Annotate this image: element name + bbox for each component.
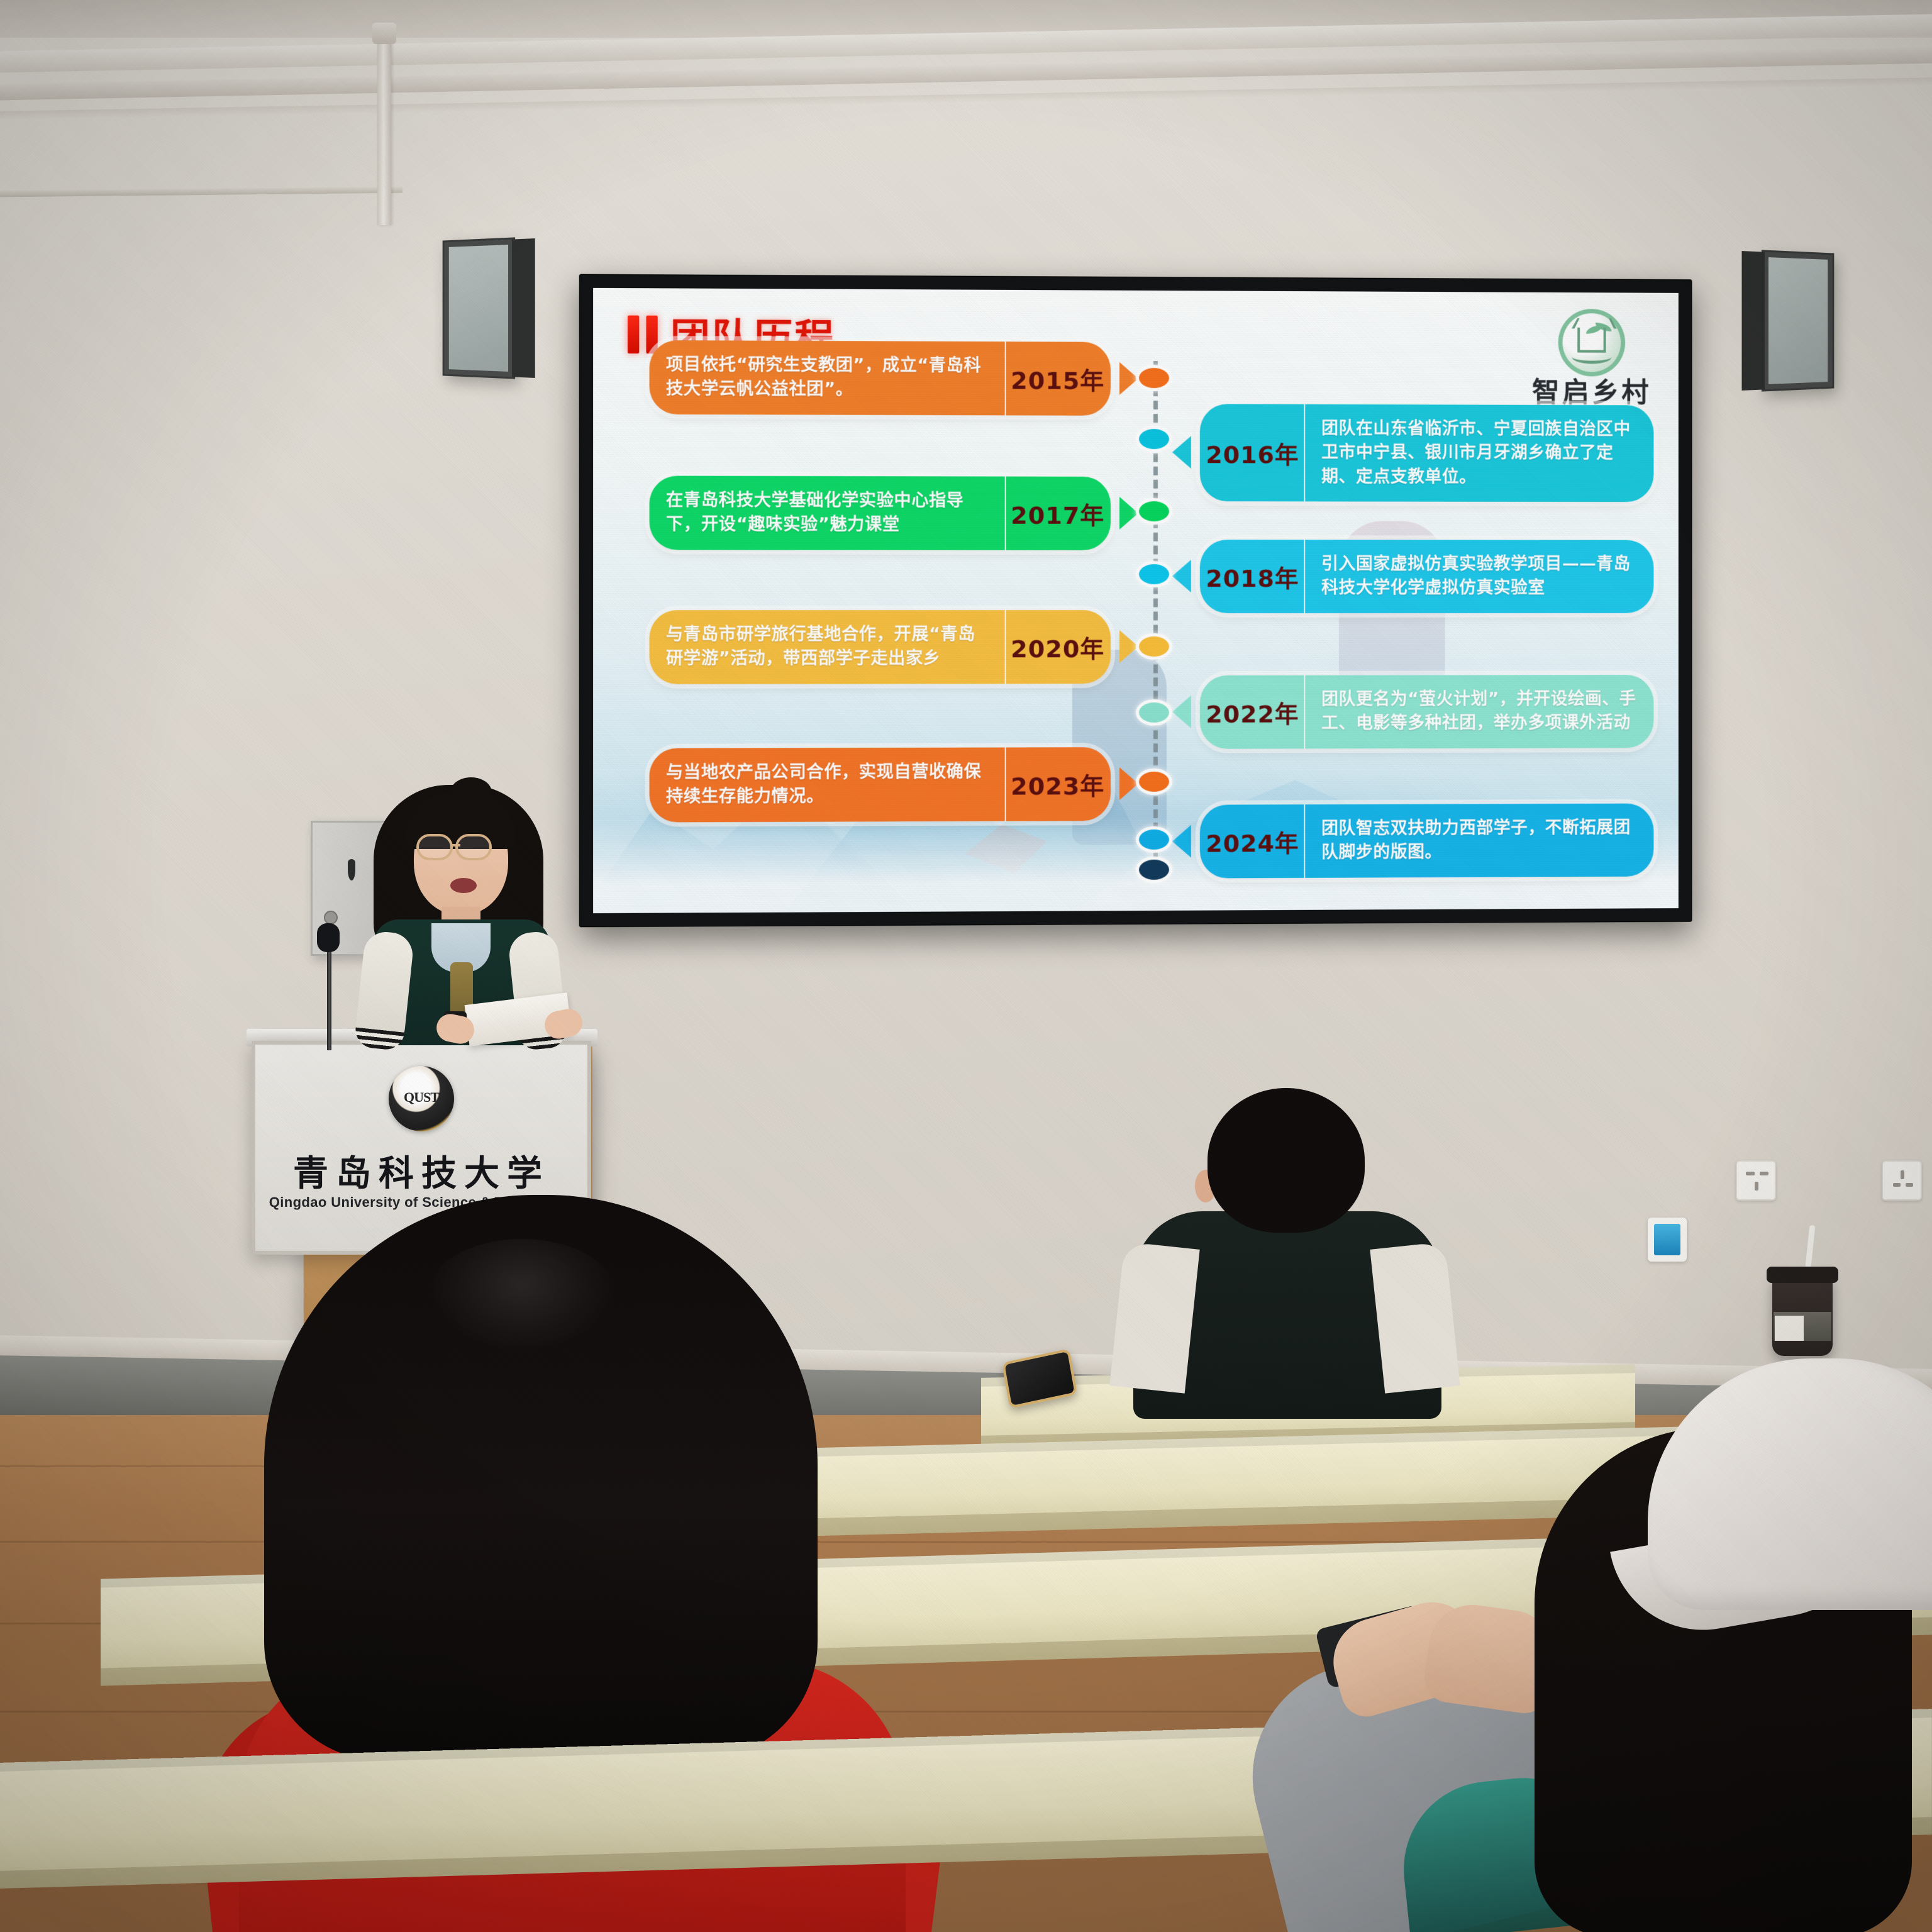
presentation-slide: 团队历程 智启乡村 ZHIQIXIANGCUN 项目依托“研究生支教团”，成立“…	[593, 288, 1679, 913]
microphone-stand	[327, 937, 331, 1050]
hair-highlight	[428, 1239, 616, 1352]
timeline-description: 团队在山东省临沂市、宁夏回族自治区中卫市中宁县、银川市月牙湖乡确立了定期、定点支…	[1305, 404, 1653, 502]
timeline-end-node	[1136, 857, 1172, 883]
brand-name-cn: 智启乡村	[1532, 379, 1651, 408]
glasses-bridge	[452, 844, 460, 847]
timeline-year-label: 2018年	[1200, 540, 1305, 613]
timeline-item-2022: 2022年团队更名为“萤火计划”，并开设绘画、手工、电影等多种社团，举办多项课外…	[1172, 675, 1665, 748]
wall-speaker-right	[1762, 250, 1834, 391]
switch-toggle[interactable]	[1654, 1224, 1680, 1255]
university-crest-icon: QUST	[389, 1066, 454, 1131]
timeline-pill: 2016年团队在山东省临沂市、宁夏回族自治区中卫市中宁县、银川市月牙湖乡确立了定…	[1200, 404, 1654, 502]
timeline-year-label: 2023年	[1005, 747, 1111, 821]
projection-screen[interactable]: 团队历程 智启乡村 ZHIQIXIANGCUN 项目依托“研究生支教团”，成立“…	[579, 274, 1692, 928]
timeline-node-2023	[1136, 769, 1172, 795]
microphone-icon[interactable]	[317, 923, 340, 952]
timeline-node-2022	[1136, 699, 1172, 726]
timeline-item-2015: 项目依托“研究生支教团”，成立“青岛科技大学云帆公益社团”。2015年	[631, 340, 1138, 416]
conduit-bracket	[372, 23, 396, 44]
timeline-node-2017	[1136, 498, 1172, 525]
timeline-arrow-icon	[1172, 825, 1191, 858]
speaker-grille	[449, 245, 508, 372]
timeline-pill: 2024年团队智志双扶助力西部学子，不断拓展团队脚步的版图。	[1200, 804, 1654, 879]
timeline-item-2018: 2018年引入国家虚拟仿真实验教学项目——青岛科技大学化学虚拟仿真实验室	[1172, 540, 1665, 613]
timeline-pill: 与青岛市研学旅行基地合作，开展“青岛研学游”活动，带西部学子走出家乡2020年	[650, 610, 1111, 684]
power-outlet[interactable]	[1736, 1160, 1776, 1201]
presenter-hair-bun	[450, 777, 492, 808]
timeline-description: 与青岛市研学旅行基地合作，开展“青岛研学游”活动，带西部学子走出家乡	[650, 610, 1005, 684]
presenter-speaker	[356, 774, 563, 1044]
timeline-item-2017: 在青岛科技大学基础化学实验中心指导下，开设“趣味实验”魅力课堂2017年	[631, 476, 1138, 550]
timeline-node-2018	[1136, 561, 1172, 587]
timeline-year-label: 2017年	[1005, 477, 1111, 550]
timeline-pill: 2018年引入国家虚拟仿真实验教学项目——青岛科技大学化学虚拟仿真实验室	[1200, 540, 1654, 613]
timeline-arrow-icon	[1172, 560, 1191, 592]
timeline-year-label: 2024年	[1200, 804, 1305, 878]
foreground-person-hair	[264, 1195, 818, 1761]
timeline-year-label: 2020年	[1005, 610, 1111, 684]
timeline-year-label: 2016年	[1200, 404, 1305, 501]
timeline-item-2024: 2024年团队智志双扶助力西部学子，不断拓展团队脚步的版图。	[1172, 803, 1665, 878]
speaker-grille	[1768, 257, 1828, 384]
timeline-description: 引入国家虚拟仿真实验教学项目——青岛科技大学化学虚拟仿真实验室	[1305, 540, 1653, 613]
timeline-pill: 与当地农产品公司合作，实现自营收确保持续生存能力情况。2023年	[650, 747, 1111, 822]
timeline-description: 在青岛科技大学基础化学实验中心指导下，开设“趣味实验”魅力课堂	[650, 476, 1005, 550]
audience-member-seated	[1094, 1088, 1472, 1415]
cabinet-lock-icon[interactable]	[324, 911, 338, 924]
timeline-description: 与当地农产品公司合作，实现自营收确保持续生存能力情况。	[650, 747, 1005, 822]
crest-initials: QUST	[404, 1089, 439, 1106]
power-outlet[interactable]	[1882, 1160, 1922, 1201]
timeline-description: 团队智志双扶助力西部学子，不断拓展团队脚步的版图。	[1305, 804, 1653, 878]
screen-display-area: 团队历程 智启乡村 ZHIQIXIANGCUN 项目依托“研究生支教团”，成立“…	[593, 288, 1679, 913]
presenter-mouth	[450, 878, 477, 893]
book-icon	[1572, 350, 1611, 364]
timeline-arrow-icon	[1172, 696, 1191, 728]
timeline-pill: 项目依托“研究生支教团”，成立“青岛科技大学云帆公益社团”。2015年	[650, 340, 1111, 416]
timeline-description: 团队更名为“萤火计划”，并开设绘画、手工、电影等多种社团，举办多项课外活动	[1305, 675, 1653, 748]
white-cap	[1648, 1358, 1932, 1610]
house-icon	[1577, 328, 1606, 353]
lecture-room-photo: 团队历程 智启乡村 ZHIQIXIANGCUN 项目依托“研究生支教团”，成立“…	[0, 0, 1932, 1932]
timeline-description: 项目依托“研究生支教团”，成立“青岛科技大学云帆公益社团”。	[650, 340, 1005, 415]
cup-lid	[1767, 1267, 1838, 1283]
timeline-node-2020	[1136, 633, 1172, 660]
light-switch[interactable]	[1648, 1218, 1687, 1262]
foreground-person-white-cap	[1535, 1321, 1932, 1932]
timeline-rows: 项目依托“研究生支教团”，成立“青岛科技大学云帆公益社团”。2015年2016年…	[593, 288, 1679, 293]
timeline-year-label: 2022年	[1200, 675, 1305, 749]
timeline-arrow-icon	[1172, 436, 1191, 469]
audience-collar-right	[1370, 1241, 1460, 1393]
timeline-node-2015	[1136, 365, 1172, 391]
timeline-pill: 在青岛科技大学基础化学实验中心指导下，开设“趣味实验”魅力课堂2017年	[650, 476, 1111, 550]
timeline-item-2020: 与青岛市研学旅行基地合作，开展“青岛研学游”活动，带西部学子走出家乡2020年	[631, 610, 1138, 684]
timeline-item-2016: 2016年团队在山东省临沂市、宁夏回族自治区中卫市中宁县、银川市月牙湖乡确立了定…	[1172, 404, 1665, 502]
speaker-side	[512, 238, 535, 378]
brand-logo: 智启乡村 ZHIQIXIANGCUN	[1532, 309, 1651, 418]
wall-speaker-left	[443, 237, 515, 379]
wall-conduit	[377, 30, 391, 225]
glasses-icon	[416, 834, 453, 860]
speaker-side	[1741, 251, 1765, 391]
audience-collar-left	[1109, 1241, 1199, 1393]
glasses-icon	[455, 834, 492, 860]
timeline-node-2016	[1136, 426, 1172, 452]
podium-university-name-cn: 青岛科技大学	[255, 1145, 587, 1196]
timeline-year-label: 2015年	[1005, 341, 1111, 415]
audience-head	[1207, 1088, 1365, 1233]
cabinet-handle[interactable]	[348, 859, 355, 880]
sprout-house-icon	[1558, 309, 1626, 377]
timeline-pill: 2022年团队更名为“萤火计划”，并开设绘画、手工、电影等多种社团，举办多项课外…	[1200, 675, 1654, 748]
timeline-nodes	[593, 288, 1679, 293]
timeline-item-2023: 与当地农产品公司合作，实现自营收确保持续生存能力情况。2023年	[631, 747, 1138, 822]
timeline-node-2024	[1136, 826, 1172, 853]
